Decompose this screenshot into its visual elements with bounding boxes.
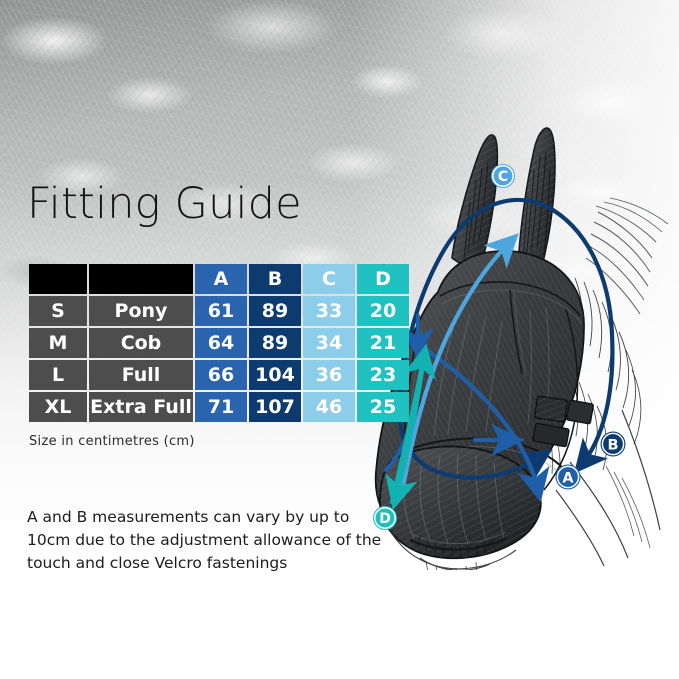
cell-size-name: Pony: [89, 296, 193, 326]
cell-measurement-b: 107: [249, 392, 301, 422]
horse-mane-sketch: [586, 198, 668, 314]
measurement-marker-a: A: [556, 465, 581, 490]
page-title: Fitting Guide: [27, 183, 302, 226]
header-size-code: [29, 264, 87, 294]
disclaimer-line-3: touch and close Velcro fastenings: [27, 552, 387, 575]
cell-measurement-a: 66: [195, 360, 247, 390]
cell-measurement-b: 89: [249, 296, 301, 326]
table-row: S Pony 61 89 33 20: [29, 296, 409, 326]
cell-size-code: S: [29, 296, 87, 326]
cell-size-code: XL: [29, 392, 87, 422]
cell-size-code: M: [29, 328, 87, 358]
cell-measurement-c: 33: [303, 296, 355, 326]
cell-size-name: Full: [89, 360, 193, 390]
header-size-name: [89, 264, 193, 294]
cell-measurement-d: 21: [357, 328, 409, 358]
disclaimer-line-1: A and B measurements can vary by up to: [27, 506, 387, 529]
horse-jaw-hair: [606, 466, 650, 548]
cell-measurement-a: 61: [195, 296, 247, 326]
table-header-row: A B C D: [29, 264, 409, 294]
cell-measurement-c: 34: [303, 328, 355, 358]
table-caption: Size in centimetres (cm): [29, 434, 195, 449]
header-measurement-b: B: [249, 264, 301, 294]
size-chart-table: A B C D S Pony 61 89 33 20 M Cob 64 89 3…: [27, 262, 411, 424]
fitting-guide-page: C A B D Fitting Guide: [0, 0, 679, 679]
header-measurement-c: C: [303, 264, 355, 294]
cell-measurement-a: 64: [195, 328, 247, 358]
table-row: XL Extra Full 71 107 46 25: [29, 392, 409, 422]
disclaimer-line-2: 10cm due to the adjustment allowance of …: [27, 529, 387, 552]
measurement-marker-b: B: [601, 432, 626, 457]
svg-text:B: B: [607, 437, 618, 453]
svg-text:A: A: [562, 470, 574, 486]
cell-measurement-c: 46: [303, 392, 355, 422]
table-row: M Cob 64 89 34 21: [29, 328, 409, 358]
table-row: L Full 66 104 36 23: [29, 360, 409, 390]
cell-size-name: Extra Full: [89, 392, 193, 422]
cell-measurement-a: 71: [195, 392, 247, 422]
cell-size-name: Cob: [89, 328, 193, 358]
cell-measurement-b: 104: [249, 360, 301, 390]
svg-text:C: C: [498, 169, 508, 185]
cell-measurement-d: 23: [357, 360, 409, 390]
cell-measurement-b: 89: [249, 328, 301, 358]
cell-measurement-d: 20: [357, 296, 409, 326]
header-measurement-d: D: [357, 264, 409, 294]
cell-size-code: L: [29, 360, 87, 390]
measurement-marker-c: C: [491, 164, 515, 188]
disclaimer-text: A and B measurements can vary by up to 1…: [27, 506, 387, 574]
cell-measurement-c: 36: [303, 360, 355, 390]
cell-measurement-d: 25: [357, 392, 409, 422]
header-measurement-a: A: [195, 264, 247, 294]
